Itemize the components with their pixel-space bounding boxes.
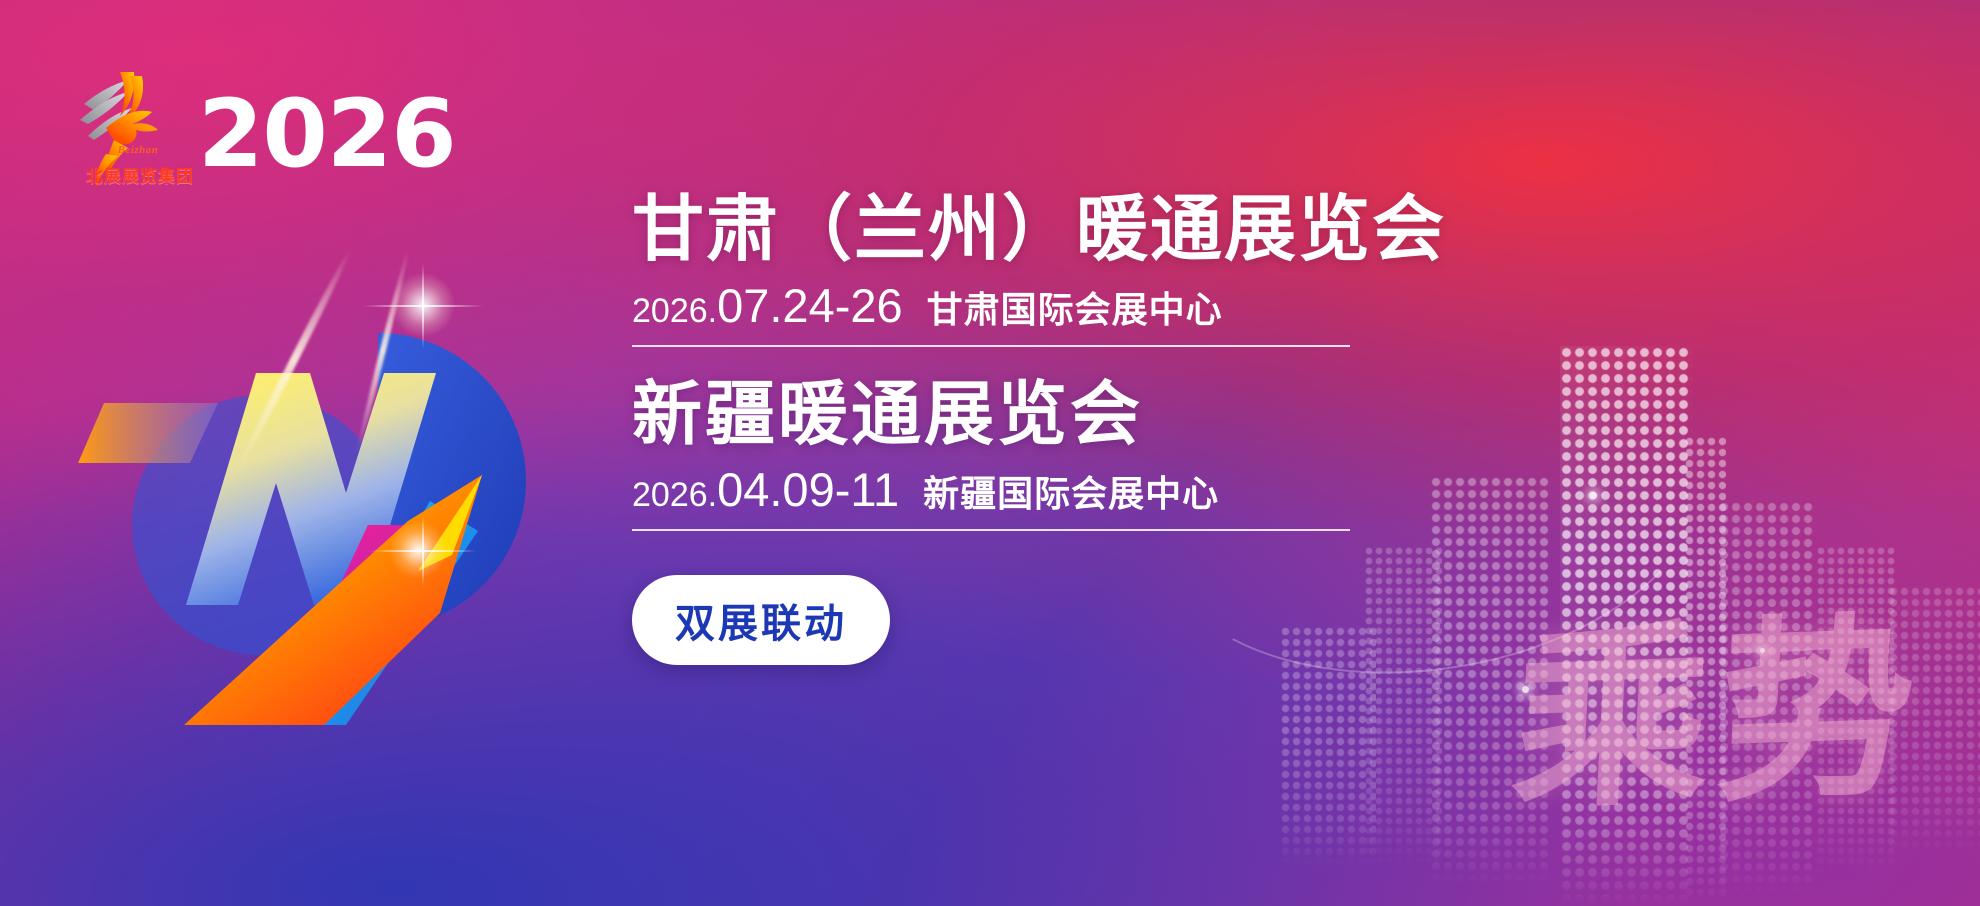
skyline-tower [1888,586,1980,856]
sparkle-icon [1590,492,1597,499]
event-date-year-gansu: 2026. [632,292,717,331]
event-date-gansu: 07.24-26 [717,278,903,333]
skyline-tower [1684,436,1726,906]
sparkle-icon [1522,686,1529,693]
event-date-year-xinjiang: 2026. [632,476,717,515]
skyline-tower [1718,501,1814,896]
skyline-tower [1364,546,1442,866]
event-meta-xinjiang: 2026. 04.09-11 新疆国际会展中心 [632,452,1350,531]
exhibition-banner: 乘势 [0,0,1980,906]
calligraphy-watermark: 乘势 [1508,613,1927,823]
sparkle-icon [1760,648,1765,653]
event-title-gansu: 甘肃（兰州）暖通展览会 [632,192,1372,268]
dual-exhibition-badge[interactable]: 双展联动 [632,575,890,665]
skyline-tower [1560,346,1692,906]
event-venue-xinjiang: 新疆国际会展中心 [923,465,1219,517]
year-label: 2026 [198,88,456,182]
skyline-tower [1816,546,1896,876]
brand-name-cn: 北展展览集团 [86,162,178,187]
phoenix-bird-icon: Beizhan 北展展览集团 [76,62,176,197]
skyline-tower [1430,476,1550,886]
event-info-block: 甘肃（兰州）暖通展览会 2026. 07.24-26 甘肃国际会展中心 新疆暖通… [632,192,1372,665]
event-meta-gansu: 2026. 07.24-26 甘肃国际会展中心 [632,268,1350,347]
event-venue-gansu: 甘肃国际会展中心 [927,281,1223,333]
dual-exhibition-badge-label: 双展联动 [675,591,847,649]
brand-logo: Beizhan 北展展览集团 2026 [76,62,456,197]
brand-name-en: Beizhan [92,144,184,156]
n-monogram-emblem [78,225,508,715]
event-date-xinjiang: 04.09-11 [717,462,899,517]
event-title-xinjiang: 新疆暖通展览会 [632,377,1372,451]
